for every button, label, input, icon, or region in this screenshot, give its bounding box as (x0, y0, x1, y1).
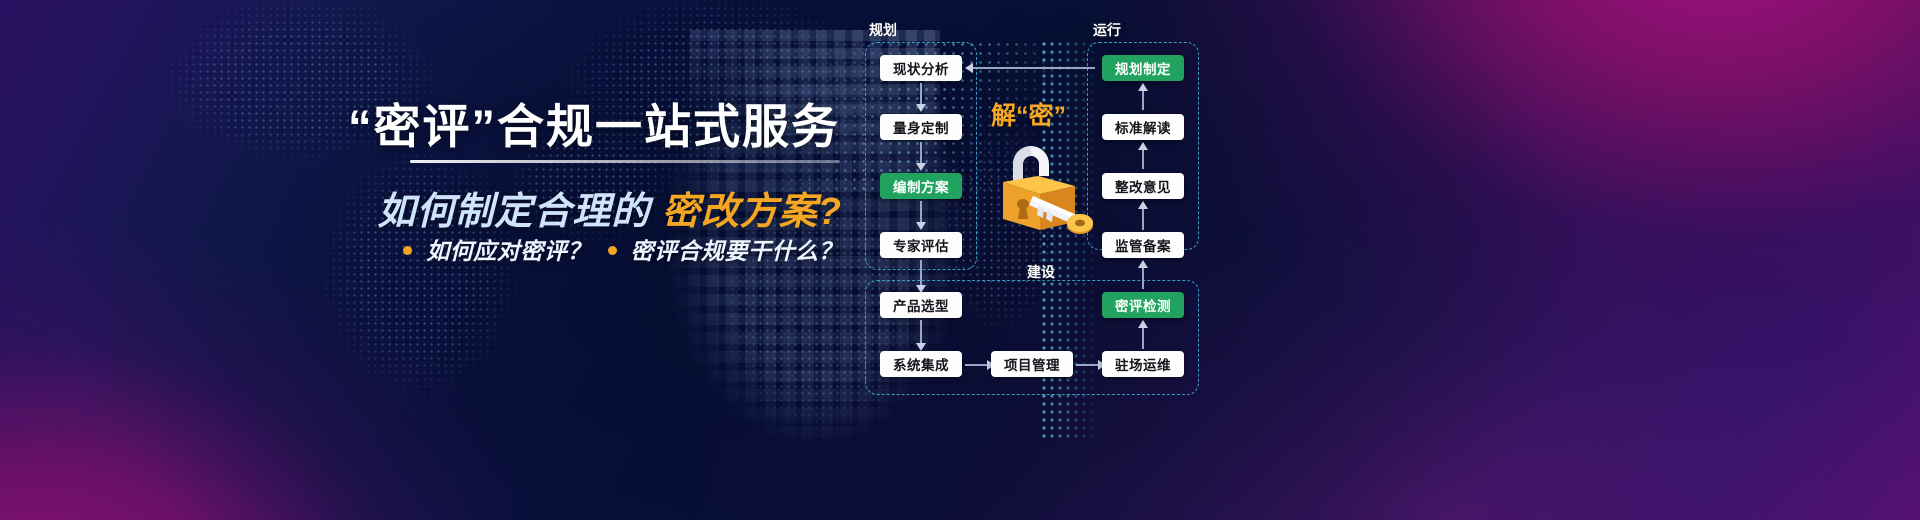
flow-node-tailored-plan[interactable]: 量身定制 (880, 114, 962, 140)
flow-node-project-management[interactable]: 项目管理 (991, 351, 1073, 377)
group-label-run: 运行 (1093, 20, 1121, 40)
bullet-item-2: 密评合规要干什么？ (631, 238, 843, 264)
arrow-up-icon (1142, 327, 1144, 349)
arrow-up-icon (1142, 208, 1144, 230)
arrow-left-icon (973, 67, 1095, 69)
bullet-list: 如何应对密评？ 密评合规要干什么？ (403, 232, 842, 266)
flow-node-product-selection[interactable]: 产品选型 (880, 292, 962, 318)
page-title: “密评”合规一站式服务 (348, 88, 840, 157)
arrow-down-icon (920, 142, 922, 164)
flow-node-plan-formulation[interactable]: 规划制定 (1102, 55, 1184, 81)
decrypt-label: 解“密” (991, 96, 1066, 132)
padlock-and-key-icon (983, 130, 1093, 240)
subtitle: 如何制定合理的 密改方案? (377, 180, 842, 235)
flow-node-standard-interpretation[interactable]: 标准解读 (1102, 114, 1184, 140)
group-label-build: 建设 (1027, 262, 1055, 282)
flow-node-onsite-operations[interactable]: 驻场运维 (1102, 351, 1184, 377)
arrow-up-icon (1142, 267, 1144, 289)
flow-node-crypto-assessment[interactable]: 密评检测 (1102, 292, 1184, 318)
flow-node-scheme-drafting[interactable]: 编制方案 (880, 173, 962, 199)
subtitle-plain: 如何制定合理的 (377, 191, 650, 233)
flow-node-current-analysis[interactable]: 现状分析 (880, 55, 962, 81)
flow-node-regulatory-filing[interactable]: 监管备案 (1102, 232, 1184, 258)
hero-text-block: “密评”合规一站式服务 如何制定合理的 密改方案? 如何应对密评？ 密评合规要干… (0, 0, 900, 520)
arrow-up-icon (1142, 90, 1144, 110)
service-flow-diagram: 规划 运行 建设 现状分析 量身定制 编制方案 专家评估 规划制定 标准解读 整… (855, 0, 1275, 520)
arrow-right-icon (965, 364, 987, 366)
subtitle-accent: 密改方案? (662, 191, 842, 233)
arrow-up-icon (1142, 149, 1144, 169)
arrow-right-icon (1076, 364, 1098, 366)
bullet-dot-icon (608, 246, 617, 255)
arrow-down-icon (920, 320, 922, 344)
flow-node-system-integration[interactable]: 系统集成 (880, 351, 962, 377)
flow-node-expert-review[interactable]: 专家评估 (880, 232, 962, 258)
bullet-dot-icon (403, 246, 412, 255)
arrow-down-icon (920, 83, 922, 105)
arrow-down-icon (920, 201, 922, 223)
promo-banner: “密评”合规一站式服务 如何制定合理的 密改方案? 如何应对密评？ 密评合规要干… (0, 0, 1920, 520)
bullet-item-1: 如何应对密评？ (426, 238, 591, 264)
group-label-plan: 规划 (869, 20, 897, 40)
flow-node-rectification-advice[interactable]: 整改意见 (1102, 173, 1184, 199)
title-divider (410, 160, 840, 163)
arrow-down-icon (920, 260, 922, 286)
